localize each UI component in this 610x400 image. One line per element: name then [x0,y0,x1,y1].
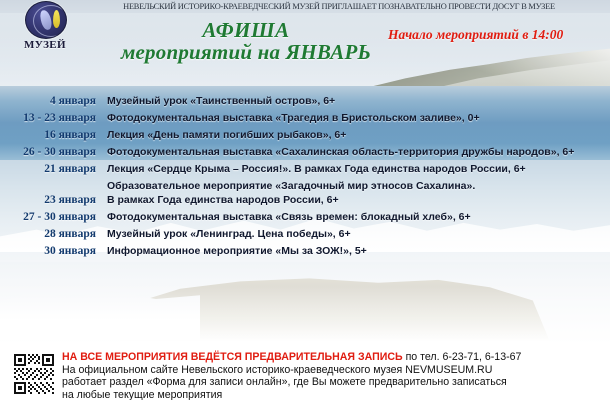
footer-line-3: работает раздел «Форма для записи онлайн… [62,376,604,389]
page-title: АФИША мероприятий на ЯНВАРЬ [96,20,396,64]
event-description: Музейный урок «Таинственный остров», 6+ [102,93,610,109]
logo-circle-icon [25,1,67,39]
event-description: Фотодокументальная выставка «Связь време… [102,209,610,225]
museum-logo: МУЗЕЙ [14,1,76,51]
event-row: 21 января Лекция «Сердце Крыма – Россия!… [0,161,610,177]
footer-line-2: На официальном сайте Невельского историк… [62,364,604,377]
event-date: 27 - 30 января [0,209,102,225]
event-row: 28 января Музейный урок «Ленинград. Цена… [0,226,610,242]
booking-required-headline: НА ВСЕ МЕРОПРИЯТИЯ ВЕДЁТСЯ ПРЕДВАРИТЕЛЬН… [62,351,403,363]
event-row: 4 января Музейный урок «Таинственный ост… [0,93,610,109]
event-description-line-2: В рамках Года единства народов России, 6… [107,193,610,207]
event-description-line-1: Образовательное мероприятие «Загадочный … [107,179,610,193]
event-row: 23 января Образовательное мероприятие «З… [0,178,610,208]
footer-text-block: НА ВСЕ МЕРОПРИЯТИЯ ВЕДЁТСЯ ПРЕДВАРИТЕЛЬН… [62,348,610,400]
museum-invitation-banner: НЕВЕЛЬСКИЙ ИСТОРИКО-КРАЕВЕДЧЕСКИЙ МУЗЕЙ … [68,0,610,13]
event-date: 13 - 23 января [0,110,102,126]
event-description: Лекция «Сердце Крыма – Россия!». В рамка… [102,161,610,177]
event-date: 4 января [0,93,102,109]
event-row: 30 января Информационное мероприятие «Мы… [0,243,610,259]
event-row: 26 - 30 января Фотодокументальная выстав… [0,144,610,160]
logo-crescent-icon [53,10,60,28]
event-date: 28 января [0,226,102,242]
poster-canvas: НЕВЕЛЬСКИЙ ИСТОРИКО-КРАЕВЕДЧЕСКИЙ МУЗЕЙ … [0,0,610,400]
footer-line-1: НА ВСЕ МЕРОПРИЯТИЯ ВЕДЁТСЯ ПРЕДВАРИТЕЛЬН… [62,351,604,364]
event-description: Информационное мероприятие «Мы за ЗОЖ!»,… [102,243,610,259]
event-row: 27 - 30 января Фотодокументальная выстав… [0,209,610,225]
start-time-note: Начало мероприятий в 14:00 [388,27,588,42]
event-description: Фотодокументальная выставка «Сахалинская… [102,144,610,160]
footer-booking-panel: НА ВСЕ МЕРОПРИЯТИЯ ВЕДЁТСЯ ПРЕДВАРИТЕЛЬН… [0,348,610,400]
logo-emblem-icon [21,1,69,39]
footer-line-4: на любые текущие мероприятия [62,389,604,400]
event-description: Образовательное мероприятие «Загадочный … [102,178,610,207]
events-schedule-list: 4 января Музейный урок «Таинственный ост… [0,93,610,260]
event-date: 26 - 30 января [0,144,102,160]
event-row: 16 января Лекция «День памяти погибших р… [0,127,610,143]
booking-phones: по тел. 6-23-71, 6-13-67 [403,351,522,363]
event-date: 23 января [0,178,102,208]
event-description: Лекция «День памяти погибших рыбаков», 6… [102,127,610,143]
event-description: Музейный урок «Ленинград. Цена победы», … [102,226,610,242]
event-date: 21 января [0,161,102,177]
title-line-afisha: АФИША [96,20,396,41]
event-date: 30 января [0,243,102,259]
qr-code-icon[interactable] [12,352,56,396]
event-description: Фотодокументальная выставка «Трагедия в … [102,110,610,126]
event-row: 13 - 23 января Фотодокументальная выстав… [0,110,610,126]
title-line-month: мероприятий на ЯНВАРЬ [96,41,396,64]
event-date: 16 января [0,127,102,143]
logo-wordmark: МУЗЕЙ [14,39,76,51]
